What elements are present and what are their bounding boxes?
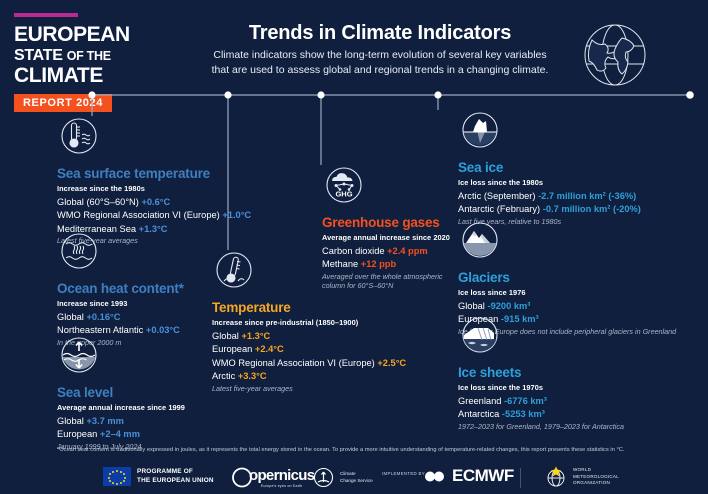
- block-subtitle: Ice loss since 1976: [458, 288, 676, 297]
- block-subtitle: Increase since the 1980s: [57, 184, 251, 193]
- stat-row: Global (60°S–60°N) +0.6°C: [57, 197, 251, 207]
- stat-row: Methane +12 ppb: [322, 259, 450, 269]
- wmo-label: WORLD METEOROLOGICAL ORGANIZATION: [573, 467, 619, 486]
- block-greenhouse-gases: GHG Greenhouse gases Average annual incr…: [322, 163, 450, 290]
- subtitle-line-2: that are used to assess global and regio…: [212, 64, 549, 76]
- stat-value: +12 ppb: [361, 259, 396, 269]
- mountain-icon: [458, 218, 676, 267]
- stat-value: +2.5°C: [377, 358, 406, 368]
- wmo-logo: WORLD METEOROLOGICAL ORGANIZATION: [545, 466, 619, 488]
- stat-value: +1.3°C: [241, 331, 270, 341]
- stat-label: Arctic: [212, 371, 238, 381]
- stat-value: +2–4 mm: [100, 429, 140, 439]
- sea-level-icon: [57, 333, 185, 382]
- iceberg-icon: [458, 108, 641, 157]
- c3s-mark-icon: [313, 467, 334, 488]
- stat-label: Global: [212, 331, 241, 341]
- ghg-cloud-icon: GHG: [322, 163, 450, 212]
- infographic-canvas: EUROPEAN STATE OF THE CLIMATE REPORT 202…: [0, 0, 708, 494]
- stat-row: Global +1.3°C: [212, 331, 406, 341]
- stat-value: +3.3°C: [238, 371, 267, 381]
- c3s-label: Climate Change Service: [340, 471, 373, 483]
- eu-programme-logo: PROGRAMME OF THE EUROPEAN UNION: [103, 467, 214, 486]
- stat-label: WMO Regional Association VI (Europe): [57, 210, 222, 220]
- globe-icon: [578, 18, 652, 97]
- block-title: Ocean heat content*: [57, 281, 184, 296]
- stat-label: Methane: [322, 259, 361, 269]
- block-subtitle: Average annual increase since 2020: [322, 233, 450, 242]
- block-ocean-heat-content: Ocean heat content* Increase since 1993 …: [57, 229, 184, 347]
- stat-value: -0.7 million km² (-20%): [543, 204, 641, 214]
- stat-row: WMO Regional Association VI (Europe) +1.…: [57, 210, 251, 220]
- ecmwf-wordmark: ECMWF: [452, 466, 514, 486]
- stat-value: -2.7 million km² (-36%): [538, 191, 636, 201]
- footnote-text: *Ocean heat content is traditionally exp…: [57, 447, 657, 453]
- stat-label: Greenland: [458, 396, 504, 406]
- ecmwf-logo: ECMWF: [422, 466, 514, 486]
- stat-row: Carbon dioxide +2.4 ppm: [322, 246, 450, 256]
- copernicus-tagline: Europe's eyes on Earth: [249, 484, 314, 488]
- stat-label: Global: [57, 312, 86, 322]
- logo-line-state-of-the: STATE OF THE: [14, 46, 142, 65]
- stat-label: WMO Regional Association VI (Europe): [212, 358, 377, 368]
- page-subtitle: Climate indicators show the long-term ev…: [182, 48, 578, 78]
- stat-label: Antarctica: [458, 409, 502, 419]
- subtitle-line-1: Climate indicators show the long-term ev…: [213, 49, 546, 61]
- block-sea-ice: Sea ice Ice loss since the 1980s Arctic …: [458, 108, 641, 226]
- stat-value: +2.4 ppm: [387, 246, 428, 256]
- stat-label: European: [212, 344, 255, 354]
- wmo-line-3: ORGANIZATION: [573, 480, 619, 486]
- copernicus-wordmark: opernicus: [249, 467, 314, 484]
- block-subtitle: Average annual increase since 1999: [57, 403, 185, 412]
- copernicus-logo: opernicus Europe's eyes on Earth: [231, 467, 314, 488]
- block-title: Glaciers: [458, 270, 676, 285]
- stat-label: Arctic (September): [458, 191, 538, 201]
- ecmwf-mark-icon: [422, 468, 446, 485]
- thermometer-water-icon: [57, 114, 251, 163]
- stat-value: -5253 km³: [502, 409, 545, 419]
- stat-value: -6776 km³: [504, 396, 547, 406]
- c3s-line-2: Change Service: [340, 478, 373, 484]
- block-title: Greenhouse gases: [322, 215, 450, 230]
- logo-line-climate: CLIMATE: [14, 65, 142, 87]
- block-subtitle: Increase since pre-industrial (1850–1900…: [212, 318, 406, 327]
- stat-row: Global +0.16°C: [57, 312, 184, 322]
- block-title: Ice sheets: [458, 365, 624, 380]
- block-sea-surface-temperature: Sea surface temperature Increase since t…: [57, 114, 251, 245]
- block-subtitle: Increase since 1993: [57, 299, 184, 308]
- stat-row: Antarctic (February) -0.7 million km² (-…: [458, 204, 641, 214]
- c3s-logo: Climate Change Service: [313, 467, 373, 488]
- stat-label: Global: [57, 416, 86, 426]
- eu-line-1: PROGRAMME OF: [137, 468, 214, 477]
- stat-value: -9200 km³: [487, 301, 530, 311]
- block-note: Latest five-year averages: [212, 384, 406, 393]
- logo-accent-rule: [14, 13, 78, 17]
- stat-value: +0.6°C: [141, 197, 170, 207]
- eu-programme-label: PROGRAMME OF THE EUROPEAN UNION: [137, 468, 214, 485]
- page-title: Trends in Climate Indicators: [180, 22, 580, 45]
- implemented-by-label: IMPLEMENTED BY: [382, 471, 425, 476]
- stat-label: Carbon dioxide: [322, 246, 387, 256]
- block-title: Sea level: [57, 385, 185, 400]
- logo-line-european: EUROPEAN: [14, 24, 142, 46]
- stat-label: Global (60°S–60°N): [57, 197, 141, 207]
- stat-value: +2.4°C: [255, 344, 284, 354]
- eu-flag-icon: [103, 467, 131, 486]
- footer-divider: [520, 468, 521, 488]
- stat-value: +3.7 mm: [86, 416, 123, 426]
- block-ice-sheets: Ice sheets Ice loss since the 1970s Gree…: [458, 313, 624, 431]
- block-note: Averaged over the whole atmospheric colu…: [322, 272, 450, 291]
- stat-row: Greenland -6776 km³: [458, 396, 624, 406]
- block-title: Sea ice: [458, 160, 641, 175]
- block-title: Temperature: [212, 300, 406, 315]
- block-subtitle: Ice loss since the 1970s: [458, 383, 624, 392]
- stat-row: European +2.4°C: [212, 344, 406, 354]
- stat-label: Antarctic (February): [458, 204, 543, 214]
- stat-row: WMO Regional Association VI (Europe) +2.…: [212, 358, 406, 368]
- block-title: Sea surface temperature: [57, 166, 251, 181]
- block-note: 1972–2023 for Greenland, 1979–2023 for A…: [458, 422, 624, 431]
- stat-value: +1.0°C: [222, 210, 251, 220]
- eu-line-2: THE EUROPEAN UNION: [137, 477, 214, 486]
- stat-label: Global: [458, 301, 487, 311]
- esotc-logo: EUROPEAN STATE OF THE CLIMATE REPORT 202…: [14, 13, 142, 112]
- implemented-by-label-wrap: IMPLEMENTED BY: [382, 471, 425, 476]
- stat-value: +0.16°C: [86, 312, 120, 322]
- stat-row: Global -9200 km³: [458, 301, 676, 311]
- svg-text:GHG: GHG: [335, 190, 352, 199]
- logo-word-state: STATE: [14, 47, 63, 64]
- stat-row: Antarctica -5253 km³: [458, 409, 624, 419]
- block-subtitle: Ice loss since the 1980s: [458, 178, 641, 187]
- stat-row: Arctic (September) -2.7 million km² (-36…: [458, 191, 641, 201]
- ocean-heat-icon: [57, 229, 184, 278]
- ice-sheet-icon: [458, 313, 624, 362]
- wmo-mark-icon: [545, 466, 567, 488]
- footer-logos: PROGRAMME OF THE EUROPEAN UNION opernicu…: [0, 462, 708, 494]
- logo-word-of-the: OF THE: [67, 49, 111, 63]
- stat-row: Global +3.7 mm: [57, 416, 185, 426]
- stat-row: European +2–4 mm: [57, 429, 185, 439]
- report-year-badge: REPORT 2024: [14, 94, 112, 112]
- stat-label: European: [57, 429, 100, 439]
- block-sea-level: Sea level Average annual increase since …: [57, 333, 185, 451]
- stat-row: Arctic +3.3°C: [212, 371, 406, 381]
